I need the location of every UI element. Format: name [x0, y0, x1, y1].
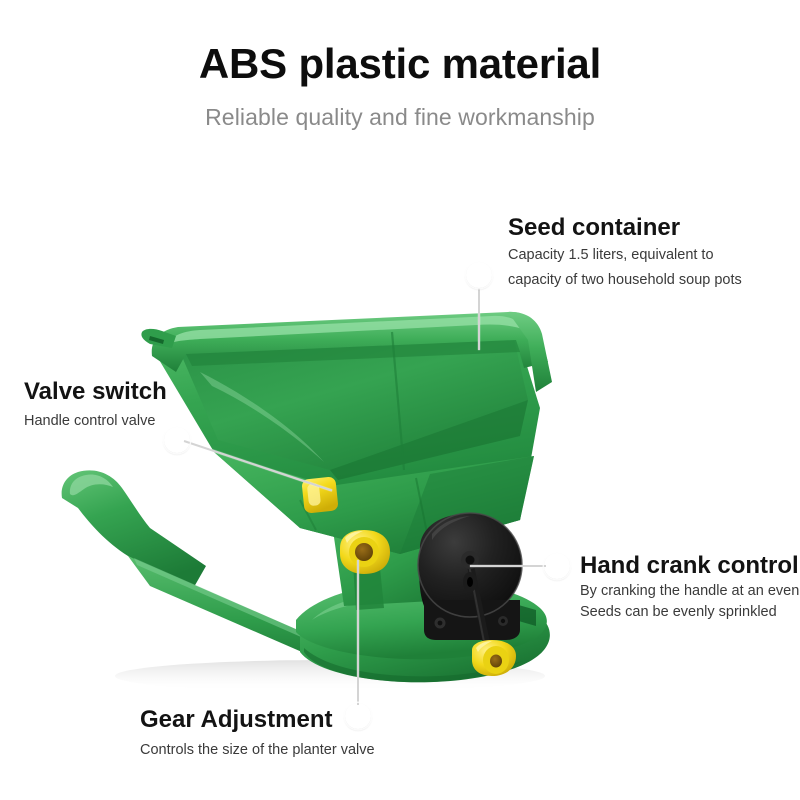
callout-heading: Seed container: [508, 214, 742, 243]
callout-description-line: Capacity 1.5 liters, equivalent to: [508, 243, 742, 268]
product-infographic: ABS plastic material Reliable quality an…: [0, 0, 800, 800]
callout-hand-crank-control: Hand crank control By cranking the handl…: [580, 552, 800, 623]
leader-line-gear-adjustment: [357, 560, 359, 705]
leader-line-seed-container: [478, 288, 480, 350]
callout-heading: Valve switch: [24, 378, 167, 407]
callout-seed-container: Seed container Capacity 1.5 liters, equi…: [508, 214, 742, 294]
callout-description-line: Controls the size of the planter valve: [140, 738, 375, 763]
gear-knob: [340, 530, 390, 574]
callout-valve-switch: Valve switch Handle control valve: [24, 378, 167, 434]
callout-heading: Hand crank control: [580, 552, 800, 581]
callout-description-line: By cranking the handle at an even speed: [580, 581, 800, 602]
plus-circle-icon-hand-crank[interactable]: [544, 553, 570, 579]
callout-description-line: Seeds can be evenly sprinkled: [580, 602, 800, 623]
callout-description-line: Handle control valve: [24, 409, 167, 434]
callout-gear-adjustment: Gear Adjustment Controls the size of the…: [140, 706, 375, 763]
callout-heading: Gear Adjustment: [140, 706, 375, 735]
callout-description-line: capacity of two household soup pots: [508, 268, 742, 293]
leader-line-hand-crank: [470, 565, 546, 567]
plus-circle-icon-seed-container[interactable]: [466, 262, 492, 288]
plus-circle-icon-valve-switch[interactable]: [164, 427, 190, 453]
